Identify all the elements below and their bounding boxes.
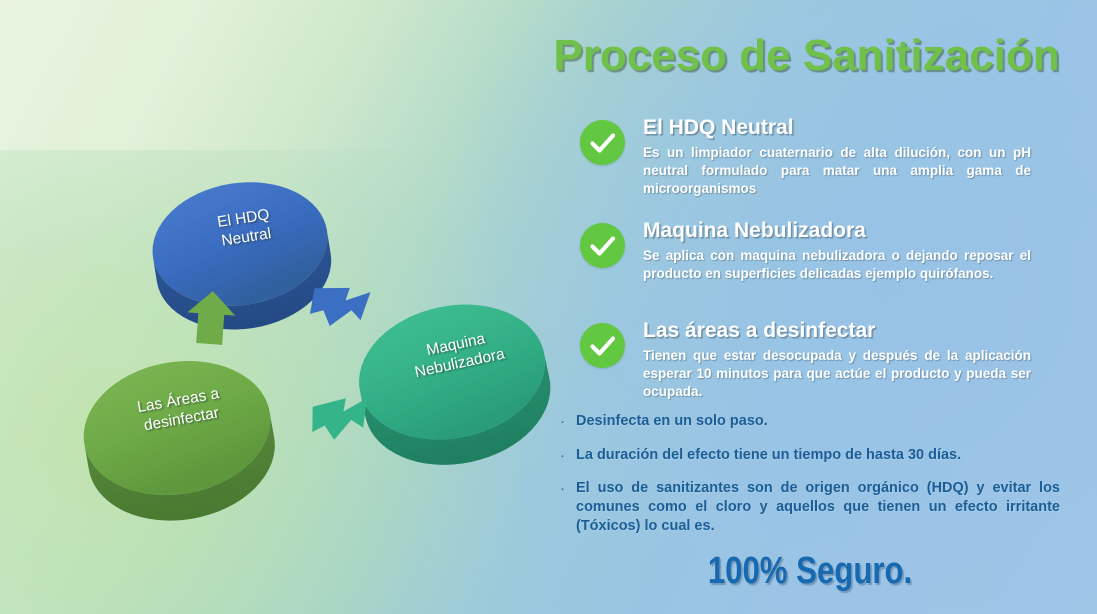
- disc-maquina-nebulizadora[interactable]: [346, 288, 560, 482]
- disc-areas-desinfectar[interactable]: [73, 347, 286, 535]
- disc-hdq-neutral[interactable]: [144, 170, 341, 342]
- check-circle-icon: [580, 120, 625, 165]
- checklist-body: Maquina Nebulizadora Se aplica con maqui…: [643, 219, 1031, 283]
- arrow-blue-icon: [309, 284, 371, 330]
- checklist-description: Se aplica con maquina nebulizadora o dej…: [643, 247, 1031, 283]
- slide-canvas: Proceso de Sanitización: [0, 0, 1097, 614]
- list-item: · El uso de sanitizantes son de origen o…: [560, 479, 1060, 536]
- arrow-teal-icon: [309, 396, 371, 442]
- cycle-diagram-svg: [0, 0, 560, 614]
- checklist-body: Las áreas a desinfectar Tienen que estar…: [643, 319, 1031, 402]
- bullet-text: Desinfecta en un solo paso.: [576, 412, 1060, 431]
- list-item: · La duración del efecto tiene un tiempo…: [560, 446, 1060, 466]
- slide-title: Proceso de Sanitización: [534, 31, 1079, 81]
- benefits-bullet-list: · Desinfecta en un solo paso. · La durac…: [560, 412, 1060, 550]
- checklist-description: Tienen que estar desocupada y después de…: [643, 347, 1031, 402]
- checklist-heading: El HDQ Neutral: [643, 116, 1031, 140]
- footer-highlight: 100% Seguro.: [605, 550, 1015, 593]
- list-item: · Desinfecta en un solo paso.: [560, 412, 1060, 432]
- cycle-diagram: El HDQ Neutral Maquina Nebulizadora Las …: [0, 0, 560, 614]
- check-circle-icon: [580, 223, 625, 268]
- checklist-heading: Las áreas a desinfectar: [643, 319, 1031, 343]
- bullet-marker-icon: ·: [560, 479, 576, 499]
- check-circle-icon: [580, 323, 625, 368]
- checklist-body: El HDQ Neutral Es un limpiador cuaternar…: [643, 116, 1031, 199]
- bullet-text: El uso de sanitizantes son de origen org…: [576, 479, 1060, 536]
- checklist-heading: Maquina Nebulizadora: [643, 219, 1031, 243]
- bullet-marker-icon: ·: [560, 412, 576, 432]
- bullet-text: La duración del efecto tiene un tiempo d…: [576, 446, 1060, 465]
- checklist-description: Es un limpiador cuaternario de alta dilu…: [643, 144, 1031, 199]
- bullet-marker-icon: ·: [560, 446, 576, 466]
